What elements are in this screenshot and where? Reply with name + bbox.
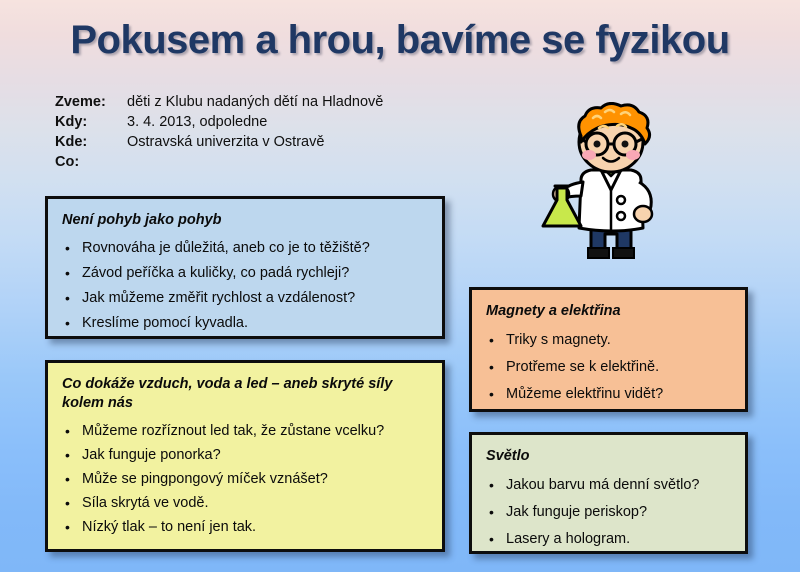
topic-list-light: Jakou barvu má denní světlo? Jak funguje…: [486, 472, 733, 553]
list-item: Triky s magnety.: [486, 327, 733, 354]
list-item: Jak funguje periskop?: [486, 499, 733, 526]
list-item: Jak funguje ponorka?: [62, 443, 430, 467]
list-item: Jakou barvu má denní světlo?: [486, 472, 733, 499]
list-item: Nízký tlak – to není jen tak.: [62, 515, 430, 539]
list-item: Jak můžeme změřit rychlost a vzdálenost?: [62, 286, 430, 311]
topic-heading-magnets: Magnety a elektřina: [486, 302, 733, 320]
info-row-kdy: Kdy: 3. 4. 2013, odpoledne: [55, 112, 383, 132]
list-item: Může se pingpongový míček vznášet?: [62, 467, 430, 491]
topic-heading-light: Světlo: [486, 447, 733, 465]
scientist-with-flask-icon: [533, 102, 688, 264]
info-value-zveme: děti z Klubu nadaných dětí na Hladnově: [127, 92, 383, 112]
poster-canvas: Pokusem a hrou, bavíme se fyzikou Zveme:…: [0, 0, 800, 572]
list-item: Můžeme rozříznout led tak, že zůstane vc…: [62, 419, 430, 443]
info-row-zveme: Zveme: děti z Klubu nadaných dětí na Hla…: [55, 92, 383, 112]
info-value-kdy: 3. 4. 2013, odpoledne: [127, 112, 267, 132]
topic-list-air: Můžeme rozříznout led tak, že zůstane vc…: [62, 419, 430, 539]
info-label-co: Co:: [55, 152, 127, 172]
event-info-block: Zveme: děti z Klubu nadaných dětí na Hla…: [55, 92, 383, 172]
info-row-kde: Kde: Ostravská univerzita v Ostravě: [55, 132, 383, 152]
page-title: Pokusem a hrou, bavíme se fyzikou: [0, 18, 800, 63]
info-label-kdy: Kdy:: [55, 112, 127, 132]
list-item: Kreslíme pomocí kyvadla.: [62, 311, 430, 336]
info-label-kde: Kde:: [55, 132, 127, 152]
topic-box-magnets: Magnety a elektřina Triky s magnety. Pro…: [469, 287, 748, 412]
topic-heading-air: Co dokáže vzduch, voda a led – aneb skry…: [62, 375, 430, 413]
topic-box-air: Co dokáže vzduch, voda a led – aneb skry…: [45, 360, 445, 552]
list-item: Lasery a hologram.: [486, 526, 733, 553]
info-value-kde: Ostravská univerzita v Ostravě: [127, 132, 324, 152]
list-item: Protřeme se k elektřině.: [486, 354, 733, 381]
topic-list-magnets: Triky s magnety. Protřeme se k elektřině…: [486, 327, 733, 408]
info-row-co: Co:: [55, 152, 383, 172]
info-label-zveme: Zveme:: [55, 92, 127, 112]
topic-heading-motion: Není pohyb jako pohyb: [62, 211, 430, 229]
topic-box-light: Světlo Jakou barvu má denní světlo? Jak …: [469, 432, 748, 554]
list-item: Rovnováha je důležitá, aneb co je to těž…: [62, 236, 430, 261]
list-item: Síla skrytá ve vodě.: [62, 491, 430, 515]
list-item: Závod peříčka a kuličky, co padá rychlej…: [62, 261, 430, 286]
topic-list-motion: Rovnováha je důležitá, aneb co je to těž…: [62, 236, 430, 336]
list-item: Můžeme elektřinu vidět?: [486, 381, 733, 408]
topic-box-motion: Není pohyb jako pohyb Rovnováha je důlež…: [45, 196, 445, 339]
